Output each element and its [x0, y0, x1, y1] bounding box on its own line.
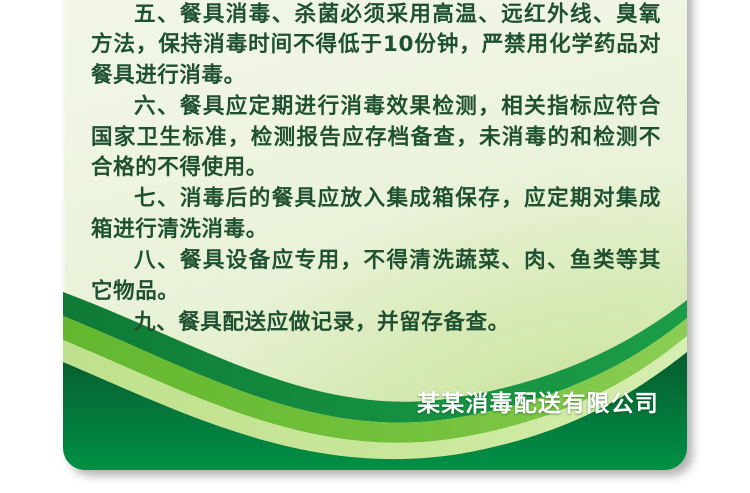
poster-root: 五、餐具消毒、杀菌必须采用高温、远红外线、臭氧方法，保持消毒时间不得低于10份钟…: [0, 0, 750, 493]
document-body: 五、餐具消毒、杀菌必须采用高温、远红外线、臭氧方法，保持消毒时间不得低于10份钟…: [91, 0, 661, 339]
paragraph-item-6: 六、餐具应定期进行消毒效果检测，相关指标应符合国家卫生标准，检测报告应存档备查，…: [91, 92, 661, 183]
company-name: 某某消毒配送有限公司: [417, 384, 659, 418]
paragraph-item-5: 五、餐具消毒、杀菌必须采用高温、远红外线、臭氧方法，保持消毒时间不得低于10份钟…: [91, 0, 661, 91]
paragraph-item-7: 七、消毒后的餐具应放入集成箱保存，应定期对集成箱进行清洗消毒。: [91, 184, 661, 245]
paragraph-item-8: 八、餐具设备应专用，不得清洗蔬菜、肉、鱼类等其它物品。: [91, 246, 661, 307]
paragraph-item-9: 九、餐具配送应做记录，并留存备查。: [91, 308, 661, 338]
poster-card: 五、餐具消毒、杀菌必须采用高温、远红外线、臭氧方法，保持消毒时间不得低于10份钟…: [63, 0, 687, 470]
